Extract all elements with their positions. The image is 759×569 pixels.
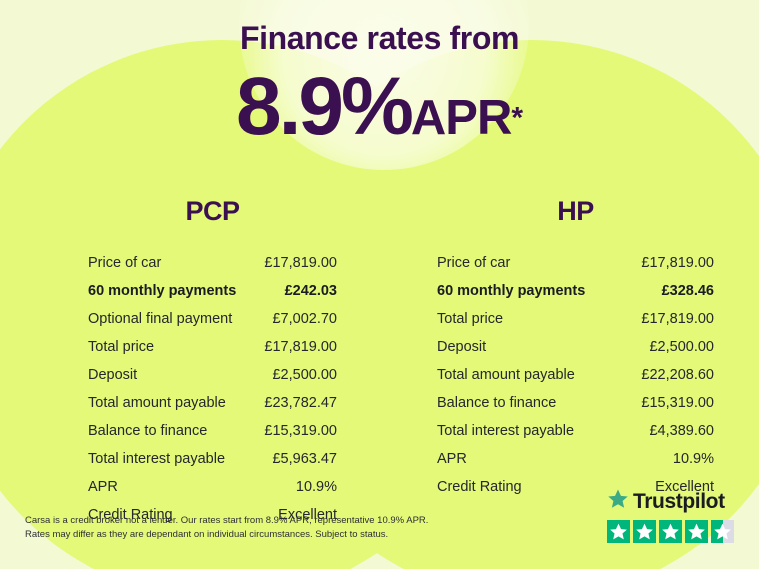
row-value: £17,819.00 [641,249,714,277]
row-label: Credit Rating [437,473,522,501]
table-row: 60 monthly payments £328.46 [437,277,714,305]
row-value: £5,963.47 [272,445,337,473]
row-label: Optional final payment [88,305,232,333]
rate-unit: APR [411,91,511,145]
table-row: Total amount payable £23,782.47 [88,389,337,417]
hp-rows: Price of car £17,819.00 60 monthly payme… [437,249,714,501]
row-value: £242.03 [285,277,337,305]
row-value: £7,002.70 [272,305,337,333]
row-value: £22,208.60 [641,361,714,389]
table-row: Price of car £17,819.00 [437,249,714,277]
column-title-pcp: PCP [88,196,337,227]
star-icon [633,520,656,543]
row-label: APR [88,473,118,501]
row-value: £15,319.00 [264,417,337,445]
star-icon [685,520,708,543]
row-label: APR [437,445,467,473]
trustpilot-stars [607,520,739,543]
finance-column-hp: HP Price of car £17,819.00 60 monthly pa… [379,196,758,529]
headline-rate: 8.9%APR* [0,66,759,148]
row-label: Total amount payable [437,361,575,389]
table-row: Price of car £17,819.00 [88,249,337,277]
row-label: Deposit [437,333,486,361]
table-row: Total price £17,819.00 [88,333,337,361]
row-value: 10.9% [673,445,714,473]
table-row: Balance to finance £15,319.00 [88,417,337,445]
row-value: £2,500.00 [272,361,337,389]
row-value: £17,819.00 [264,333,337,361]
trustpilot-rating: Trustpilot [607,488,739,543]
row-label: Balance to finance [437,389,556,417]
table-row: Deposit £2,500.00 [437,333,714,361]
rate-asterisk: * [511,102,523,135]
star-icon [659,520,682,543]
row-value: £17,819.00 [641,305,714,333]
trustpilot-star-icon [607,488,629,515]
row-value: £328.46 [662,277,714,305]
row-value: £17,819.00 [264,249,337,277]
row-label: Price of car [88,249,161,277]
rate-value: 8.9% [236,61,411,152]
row-value: 10.9% [296,473,337,501]
table-row: Total interest payable £5,963.47 [88,445,337,473]
pcp-rows: Price of car £17,819.00 60 monthly payme… [88,249,337,529]
table-row: Total amount payable £22,208.60 [437,361,714,389]
row-label: 60 monthly payments [88,277,236,305]
column-title-hp: HP [437,196,714,227]
row-label: Total interest payable [437,417,574,445]
finance-column-pcp: PCP Price of car £17,819.00 60 monthly p… [0,196,379,529]
disclaimer-text: Carsa is a credit broker not a lender. O… [25,514,445,542]
row-label: Price of car [437,249,510,277]
row-value: £15,319.00 [641,389,714,417]
page-title: Finance rates from [0,20,759,57]
trustpilot-wordmark: Trustpilot [633,491,725,512]
table-row: Optional final payment £7,002.70 [88,305,337,333]
row-label: Total price [88,333,154,361]
row-label: Total interest payable [88,445,225,473]
trustpilot-brand: Trustpilot [607,488,739,514]
table-row: 60 monthly payments £242.03 [88,277,337,305]
table-row: Total interest payable £4,389.60 [437,417,714,445]
row-label: Total amount payable [88,389,226,417]
finance-comparison-columns: PCP Price of car £17,819.00 60 monthly p… [0,196,759,529]
poster-content: Finance rates from 8.9%APR* PCP Price of… [0,0,759,569]
row-value: £23,782.47 [264,389,337,417]
table-row: APR 10.9% [437,445,714,473]
star-icon [607,520,630,543]
row-label: Deposit [88,361,137,389]
star-half-icon [711,520,734,543]
row-label: Balance to finance [88,417,207,445]
row-label: Total price [437,305,503,333]
table-row: APR 10.9% [88,473,337,501]
row-value: £4,389.60 [649,417,714,445]
table-row: Total price £17,819.00 [437,305,714,333]
table-row: Deposit £2,500.00 [88,361,337,389]
row-label: 60 monthly payments [437,277,585,305]
row-value: £2,500.00 [649,333,714,361]
table-row: Balance to finance £15,319.00 [437,389,714,417]
finance-rates-poster: Finance rates from 8.9%APR* PCP Price of… [0,0,759,569]
